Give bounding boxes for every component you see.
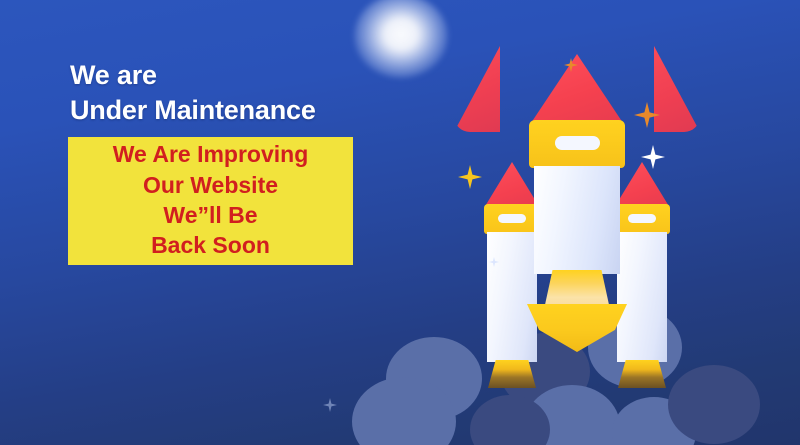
booster-nose-cone bbox=[484, 162, 540, 208]
cloud-puff-8 bbox=[668, 365, 760, 444]
moon-icon bbox=[354, 0, 448, 78]
notice-line: We”ll Be bbox=[163, 200, 257, 230]
maintenance-page: We are Under Maintenance We Are Improvin… bbox=[0, 0, 800, 445]
booster-fin-right bbox=[654, 46, 700, 132]
rocket-illustration bbox=[452, 44, 702, 304]
booster-body bbox=[487, 232, 537, 362]
booster-nozzle bbox=[618, 360, 666, 388]
notice-line: Back Soon bbox=[151, 230, 270, 260]
booster-body bbox=[617, 232, 667, 362]
maintenance-notice-box: We Are Improving Our Website We”ll Be Ba… bbox=[68, 137, 353, 265]
notice-line: We Are Improving bbox=[113, 139, 309, 169]
booster-nose-cone bbox=[614, 162, 670, 208]
booster-nozzle bbox=[488, 360, 536, 388]
booster-window bbox=[628, 214, 656, 223]
rocket-window bbox=[555, 136, 600, 150]
booster-fin-left bbox=[454, 46, 500, 132]
page-title: We are Under Maintenance bbox=[70, 58, 316, 127]
rocket-body bbox=[534, 166, 620, 274]
notice-line: Our Website bbox=[143, 170, 278, 200]
booster-window bbox=[498, 214, 526, 223]
